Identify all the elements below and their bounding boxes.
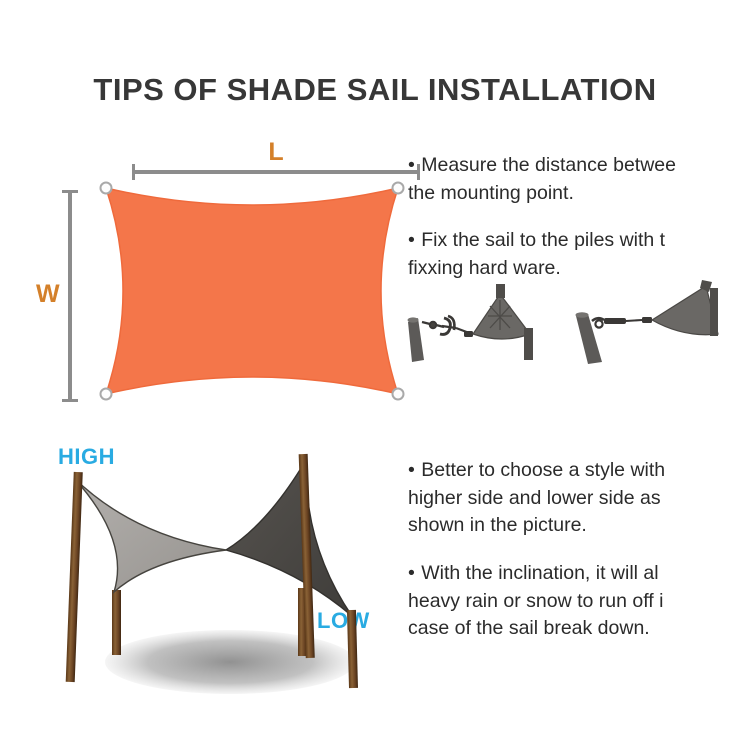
ground-shadow: [105, 630, 355, 694]
tip-line: shown in the picture.: [408, 512, 665, 540]
dimension-label-length: L: [132, 138, 420, 167]
sail-body: [106, 188, 398, 394]
infographic-page: TIPS OF SHADE SAIL INSTALLATION L W • Me…: [0, 0, 750, 750]
bullet-icon: •: [408, 154, 416, 176]
hardware-illustration-tilted-post-cable: [566, 280, 736, 364]
bullet-icon: •: [408, 229, 416, 251]
tip-line: • Measure the distance betwee: [408, 152, 676, 180]
shade-sail-light: [74, 478, 226, 592]
shade-sail-dark: [226, 460, 352, 616]
tips-top-text-block: • Measure the distance betwee the mounti…: [408, 152, 676, 283]
tip-line: fixxing hard ware.: [408, 255, 676, 283]
post-front-right-low: [347, 610, 358, 688]
cable-shackle-icon: [592, 317, 652, 328]
tip-line: higher side and lower side as: [408, 485, 665, 513]
tip-line: case of the sail break down.: [408, 615, 665, 643]
sail-corner-plate-icon: [473, 284, 533, 360]
post-front-left-high: [66, 472, 83, 682]
tip-line: • With the inclination, it will al: [408, 560, 665, 588]
tip-line: the mounting point.: [408, 180, 676, 208]
tip-line: • Fix the sail to the piles with t: [408, 227, 676, 255]
page-title: TIPS OF SHADE SAIL INSTALLATION: [0, 72, 750, 108]
hypar-shade-sail-scene: HIGH LOW: [30, 440, 420, 720]
dimension-label-width: W: [36, 280, 60, 309]
tip-paragraph: • With the inclination, it will al heavy…: [408, 560, 665, 643]
sail-corner-icon: [652, 280, 718, 336]
tip-paragraph: • Better to choose a style with higher s…: [408, 457, 665, 540]
dimension-line-horizontal: [132, 170, 420, 174]
post-back-left: [112, 590, 121, 655]
tip-text: Fix the sail to the piles with t: [421, 229, 665, 251]
tip-paragraph: • Measure the distance betwee the mounti…: [408, 152, 676, 207]
hardware-illustration-post-turnbuckle: [404, 282, 564, 362]
bullet-icon: •: [408, 562, 416, 584]
mounting-post-icon: [408, 317, 425, 362]
tip-paragraph: • Fix the sail to the piles with t fixxi…: [408, 227, 676, 282]
tip-line: • Better to choose a style with: [408, 457, 665, 485]
tip-text: Better to choose a style with: [421, 459, 665, 481]
bullet-icon: •: [408, 459, 416, 481]
tips-bottom-text-block: • Better to choose a style with higher s…: [408, 457, 665, 643]
orange-shade-sail-shape: [96, 178, 408, 404]
tip-text: Measure the distance betwee: [421, 154, 676, 176]
dimension-line-vertical: [68, 190, 72, 402]
rectangular-sail-diagram: L W: [40, 140, 400, 410]
tip-text: With the inclination, it will al: [421, 562, 658, 584]
shade-sail-scene-drawing: [30, 440, 420, 720]
turnbuckle-hardware-icon: [422, 316, 473, 337]
tip-line: heavy rain or snow to run off i: [408, 588, 665, 616]
